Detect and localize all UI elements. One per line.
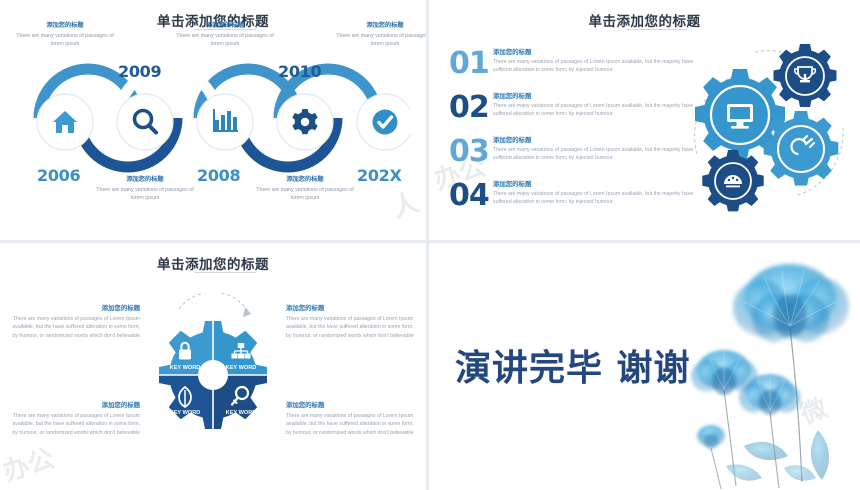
text-block-bottom-left: 添加您的标题 There are many variations of pass…	[8, 400, 140, 437]
page-title: 单击添加您的标题	[429, 10, 860, 30]
timeline-label-2009: 添加您的标题 There are many variations of pass…	[89, 174, 201, 202]
watermark: 办公	[0, 438, 58, 489]
keyword-label: KEY WORD	[170, 365, 201, 371]
text-block-top-right: 添加您的标题 There are many variations of pass…	[286, 303, 418, 340]
block-heading: 添加您的标题	[8, 400, 140, 409]
list-number: 03	[449, 134, 493, 167]
block-body: There are many variations of passages of…	[8, 315, 140, 340]
gear-gauge	[702, 150, 763, 211]
gear-trophy	[774, 44, 837, 107]
timeline-year-2010: 2010	[278, 62, 321, 81]
keyword-label: KEY WORD	[170, 410, 201, 416]
slide-keyword-gear: 单击添加您的标题	[0, 243, 429, 490]
block-body: There are many variations of passages of…	[286, 412, 418, 437]
numbered-list: 01 添加您的标题 There are many variations of p…	[449, 46, 709, 222]
page-title: 单击添加您的标题	[0, 253, 426, 273]
block-heading: 添加您的标题	[286, 400, 418, 409]
keyword-label: KEY WORD	[226, 365, 257, 371]
timeline-year-202x: 202X	[357, 166, 402, 185]
timeline-year-2009: 2009	[118, 62, 161, 81]
timeline-year-2006: 2006	[37, 166, 80, 185]
text-block-top-left: 添加您的标题 There are many variations of pass…	[8, 303, 140, 340]
timeline-label-2008: 添加您的标题 There are many variations of pass…	[169, 20, 281, 48]
title-underline	[194, 272, 256, 273]
slide-grid: 单击添加您的标题	[0, 0, 860, 490]
gear-cluster-graphic	[677, 36, 852, 216]
timeline-label-2010: 添加您的标题 There are many variations of pass…	[249, 174, 361, 202]
list-item[interactable]: 02 添加您的标题 There are many variations of p…	[449, 90, 709, 127]
text-block-bottom-right: 添加您的标题 There are many variations of pass…	[286, 400, 418, 437]
thanks-text: 演讲完毕 谢谢	[455, 339, 691, 391]
keyword-label: KEY WORD	[226, 410, 257, 416]
slide-thanks: 演讲完毕 谢谢	[429, 243, 860, 490]
gear-plug	[764, 111, 839, 186]
timeline-graphic: 添加您的标题 There are many variations of pass…	[0, 36, 426, 236]
timeline-year-2008: 2008	[197, 166, 240, 185]
timeline-label-2006: 添加您的标题 There are many variations of pass…	[9, 20, 121, 48]
keyword-gear-graphic: KEY WORD KEY WORD KEY WORD KEY WORD	[137, 293, 289, 443]
list-item[interactable]: 01 添加您的标题 There are many variations of p…	[449, 46, 709, 83]
block-heading: 添加您的标题	[286, 303, 418, 312]
timeline-label-202x: 添加您的标题 There are many variations of pass…	[329, 20, 429, 48]
block-body: There are many variations of passages of…	[8, 412, 140, 437]
slide-numbered-list: 单击添加您的标题 01 添加您的标题 There are many variat…	[429, 0, 860, 243]
flower-illustration	[666, 250, 860, 490]
list-number: 01	[449, 46, 493, 79]
title-underline	[626, 29, 688, 30]
list-item[interactable]: 04 添加您的标题 There are many variations of p…	[449, 178, 709, 215]
list-item[interactable]: 03 添加您的标题 There are many variations of p…	[449, 134, 709, 171]
check-circle-icon	[373, 110, 398, 135]
block-body: There are many variations of passages of…	[286, 315, 418, 340]
block-heading: 添加您的标题	[8, 303, 140, 312]
slide-timeline: 单击添加您的标题	[0, 0, 429, 243]
list-number: 02	[449, 90, 493, 123]
list-number: 04	[449, 178, 493, 211]
